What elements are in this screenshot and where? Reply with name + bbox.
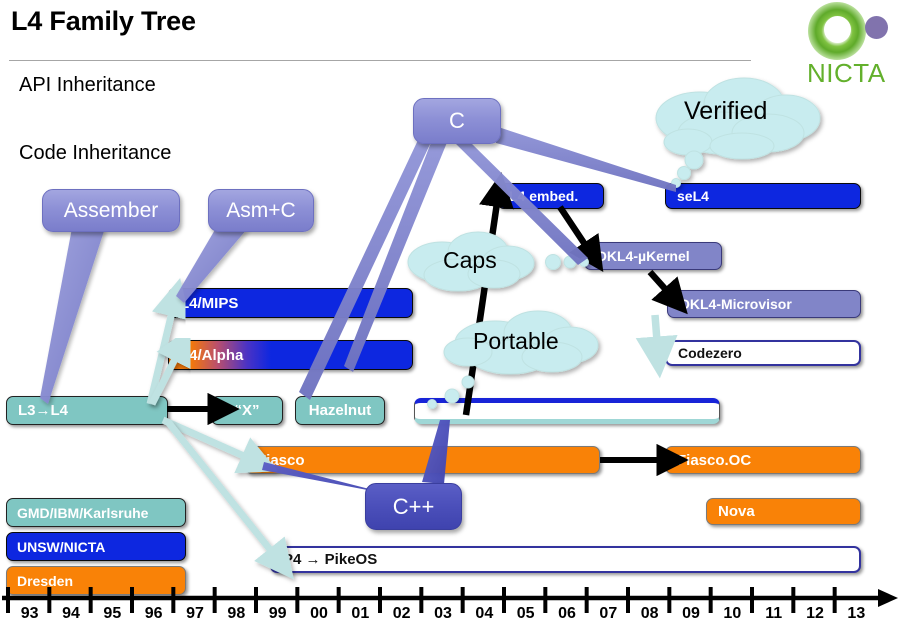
timeline-tick: 10 (715, 605, 750, 623)
page-title: L4 Family Tree (11, 6, 196, 37)
timeline-tick: 12 (797, 605, 832, 623)
timeline-tick: 04 (467, 605, 502, 623)
timeline-tick: 02 (384, 605, 419, 623)
slide-canvas: L4 Family Tree NICTA API Inheritance Cod… (0, 0, 901, 631)
timeline-tick: 06 (549, 605, 584, 623)
timeline-tick: 00 (301, 605, 336, 623)
timeline-tick: 05 (508, 605, 543, 623)
timeline-tick: 95 (95, 605, 130, 623)
timeline-tick: 11 (756, 605, 791, 623)
timeline-tick: 96 (136, 605, 171, 623)
timeline-tick: 94 (53, 605, 88, 623)
timeline-tick: 08 (632, 605, 667, 623)
logo-white-dot-icon (824, 16, 851, 43)
timeline-tick: 03 (425, 605, 460, 623)
legend-code-inheritance-label: Code Inheritance (19, 142, 171, 165)
timeline-tick: 93 (12, 605, 47, 623)
logo-purple-dot-icon (865, 16, 888, 39)
logo-wordmark: NICTA (807, 58, 886, 89)
timeline-axis: 9394959697989900010203040506070809101112… (0, 583, 901, 631)
timeline-tick: 98 (219, 605, 254, 623)
timeline-tick: 97 (177, 605, 212, 623)
timeline-tick: 07 (591, 605, 626, 623)
legend-api-inheritance-label: API Inheritance (19, 74, 156, 97)
nicta-logo: NICTA (806, 2, 901, 84)
timeline-tick: 09 (673, 605, 708, 623)
timeline-tick: 13 (839, 605, 874, 623)
timeline-tick: 99 (260, 605, 295, 623)
timeline-tick: 01 (343, 605, 378, 623)
